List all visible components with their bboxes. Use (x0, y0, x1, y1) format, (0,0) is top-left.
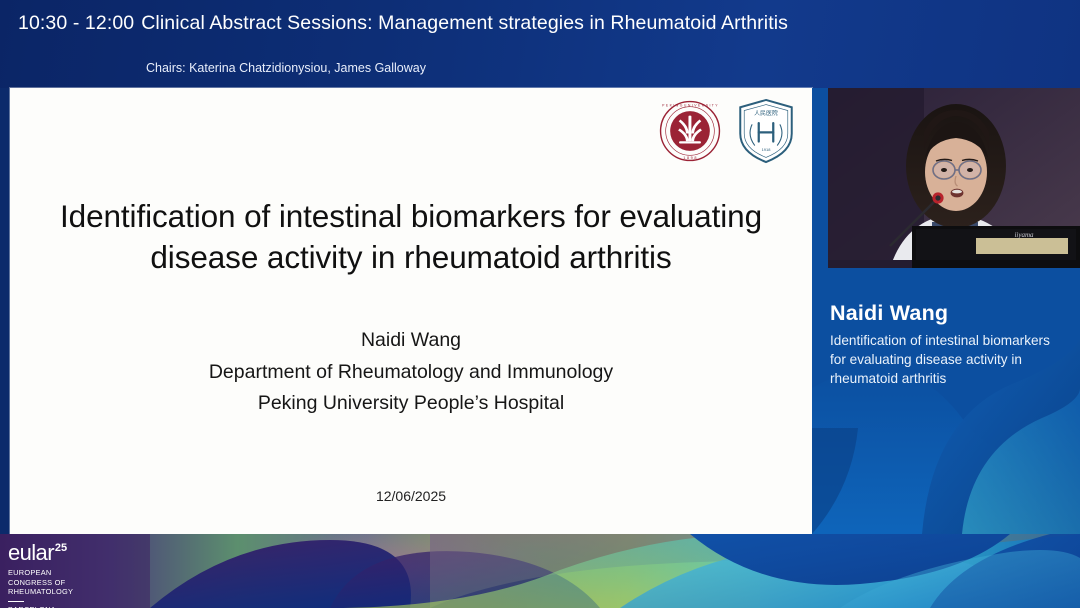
session-title-text: Clinical Abstract Sessions: Management s… (141, 12, 788, 34)
slide-department: Department of Rheumatology and Immunolog… (50, 357, 772, 389)
svg-text:1 8 9 8: 1 8 9 8 (683, 156, 697, 160)
slide-title: Identification of intestinal biomarkers … (50, 196, 772, 278)
speaker-name: Naidi Wang (830, 301, 1070, 326)
eular-logo-subtitle: EUROPEAN CONGRESS OF RHEUMATOLOGY (8, 568, 128, 597)
eular-congress-logo: eular25 EUROPEAN CONGRESS OF RHEUMATOLOG… (8, 542, 128, 608)
slide-date: 12/06/2025 (50, 488, 772, 504)
peking-university-seal-icon: P E K I N G U N I V E R S I T Y 1 8 9 8 (658, 99, 722, 163)
eular-logo-divider (8, 601, 24, 602)
session-header-bar: 10:30 - 12:00Clinical Abstract Sessions:… (0, 0, 1080, 88)
presentation-slide[interactable]: P E K I N G U N I V E R S I T Y 1 8 9 8 … (10, 88, 812, 534)
video-scene: iiyama (828, 88, 1080, 268)
session-time: 10:30 - 12:00 (18, 12, 134, 34)
peoples-hospital-shield-icon: 人民医院 1918 (736, 98, 796, 164)
footer-gradient-art (0, 534, 1080, 608)
slide-author-block: Naidi Wang Department of Rheumatology an… (50, 325, 772, 420)
eular-footer-bar: eular25 EUROPEAN CONGRESS OF RHEUMATOLOG… (0, 534, 1080, 608)
slide-institution: Peking University People’s Hospital (50, 388, 772, 420)
session-chairs: Chairs: Katerina Chatzidionysiou, James … (146, 61, 426, 75)
svg-text:1918: 1918 (762, 147, 772, 152)
eular-subtitle-line-3: RHEUMATOLOGY (8, 587, 128, 597)
session-title: 10:30 - 12:00Clinical Abstract Sessions:… (18, 12, 788, 35)
slide-title-line-1: Identification of intestinal biomarkers … (50, 196, 772, 237)
slide-logo-group: P E K I N G U N I V E R S I T Y 1 8 9 8 … (658, 98, 796, 164)
eular-logo-year: 25 (55, 542, 67, 554)
eular-wordmark: eular25 (8, 542, 128, 565)
svg-text:iiyama: iiyama (1014, 231, 1034, 239)
speaker-talk-title: Identification of intestinal biomarkers … (830, 331, 1068, 388)
slide-title-line-2: disease activity in rheumatoid arthritis (50, 237, 772, 278)
eular-logo-word: eular (8, 542, 54, 564)
eular-subtitle-line-1: EUROPEAN (8, 568, 128, 578)
slide-author-name: Naidi Wang (50, 325, 772, 357)
speaker-video-feed[interactable]: iiyama (828, 88, 1080, 268)
svg-text:P E K I N G U N I V E R S I: P E K I N G U N I V E R S I T Y (662, 104, 718, 108)
speaker-side-panel: iiyama Naidi Wang Identification of inte… (812, 88, 1080, 534)
eular-subtitle-line-2: CONGRESS OF (8, 578, 128, 588)
